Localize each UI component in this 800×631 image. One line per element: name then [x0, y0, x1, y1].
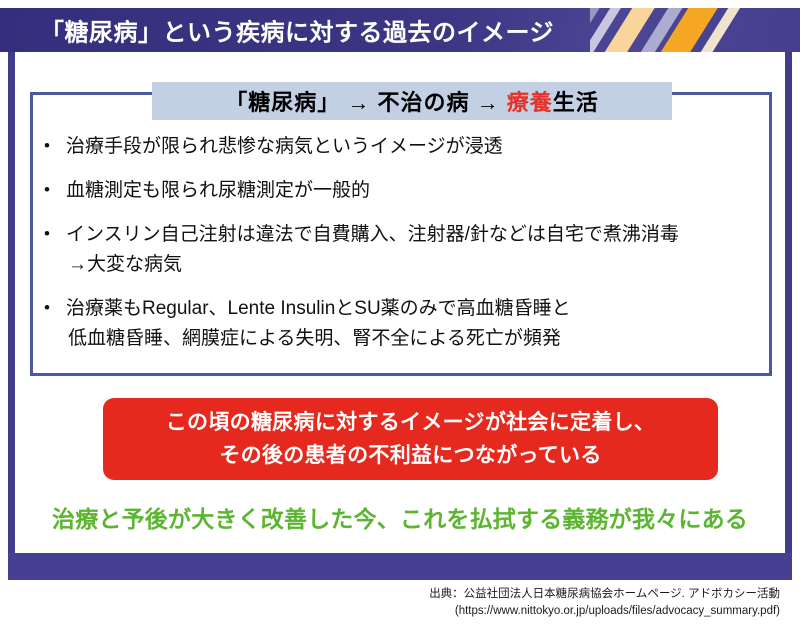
bullet-dot-icon: •	[44, 294, 66, 321]
subtitle-text: 「糖尿病」 → 不治の病 → 療養生活	[225, 85, 598, 117]
list-item: • 治療薬もRegular、Lente InsulinとSU薬のみで高血糖昏睡と…	[44, 294, 764, 354]
list-item-line: インスリン自己注射は違法で自費購入、注射器/針などは自宅で煮沸消毒	[66, 220, 764, 250]
list-item-line: 低血糖昏睡、網膜症による失明、腎不全による死亡が頻発	[66, 324, 764, 354]
callout-line-1: この頃の糖尿病に対するイメージが社会に定着し、	[166, 406, 655, 439]
header-diagonal-stripes-decoration	[590, 8, 800, 52]
list-item: • 治療手段が限られ悲惨な病気というイメージが浸透	[44, 132, 764, 162]
list-item-body: インスリン自己注射は違法で自費購入、注射器/針などは自宅で煮沸消毒 →大変な病気	[66, 220, 764, 280]
list-item: • インスリン自己注射は違法で自費購入、注射器/針などは自宅で煮沸消毒 →大変な…	[44, 220, 764, 280]
bullet-dot-icon: •	[44, 220, 66, 247]
subtitle-suffix: 生活	[553, 90, 599, 115]
citation-block: 出典：公益社団法人日本糖尿病協会ホームページ. アドボカシー活動 (https:…	[0, 586, 790, 620]
subtitle-highlight: 療養	[507, 90, 553, 115]
list-item-line: 治療薬もRegular、Lente InsulinとSU薬のみで高血糖昏睡と	[66, 294, 764, 324]
list-item-line: 治療手段が限られ悲惨な病気というイメージが浸透	[66, 132, 764, 162]
list-item-body: 治療薬もRegular、Lente InsulinとSU薬のみで高血糖昏睡と 低…	[66, 294, 764, 354]
subtitle-prefix: 「糖尿病」 → 不治の病 →	[225, 90, 506, 115]
citation-url-line: (https://www.nittokyo.or.jp/uploads/file…	[0, 603, 780, 620]
subtitle-chip: 「糖尿病」 → 不治の病 → 療養生活	[152, 82, 672, 120]
list-item-body: 治療手段が限られ悲惨な病気というイメージが浸透	[66, 132, 764, 162]
list-item-line: →大変な病気	[66, 250, 764, 280]
red-callout-box: この頃の糖尿病に対するイメージが社会に定着し、 その後の患者の不利益につながって…	[103, 398, 718, 480]
list-item-body: 血糖測定も限られ尿糖測定が一般的	[66, 176, 764, 206]
slide-canvas: 「糖尿病」という疾病に対する過去のイメージ 「糖尿病」 → 不治の病 → 療養生…	[0, 0, 800, 631]
list-item-line: 血糖測定も限られ尿糖測定が一般的	[66, 176, 764, 206]
slide-title: 「糖尿病」という疾病に対する過去のイメージ	[40, 13, 554, 48]
bullet-dot-icon: •	[44, 132, 66, 159]
bullet-list: • 治療手段が限られ悲惨な病気というイメージが浸透 • 血糖測定も限られ尿糖測定…	[44, 132, 764, 368]
callout-line-2: その後の患者の不利益につながっている	[219, 439, 601, 472]
citation-source-line: 出典：公益社団法人日本糖尿病協会ホームページ. アドボカシー活動	[0, 586, 780, 603]
conclusion-text: 治療と予後が大きく改善した今、これを払拭する義務が我々にある	[0, 500, 800, 534]
slide-header-band: 「糖尿病」という疾病に対する過去のイメージ	[0, 8, 800, 52]
slide-footer-band	[8, 553, 792, 580]
list-item: • 血糖測定も限られ尿糖測定が一般的	[44, 176, 764, 206]
bullet-dot-icon: •	[44, 176, 66, 203]
